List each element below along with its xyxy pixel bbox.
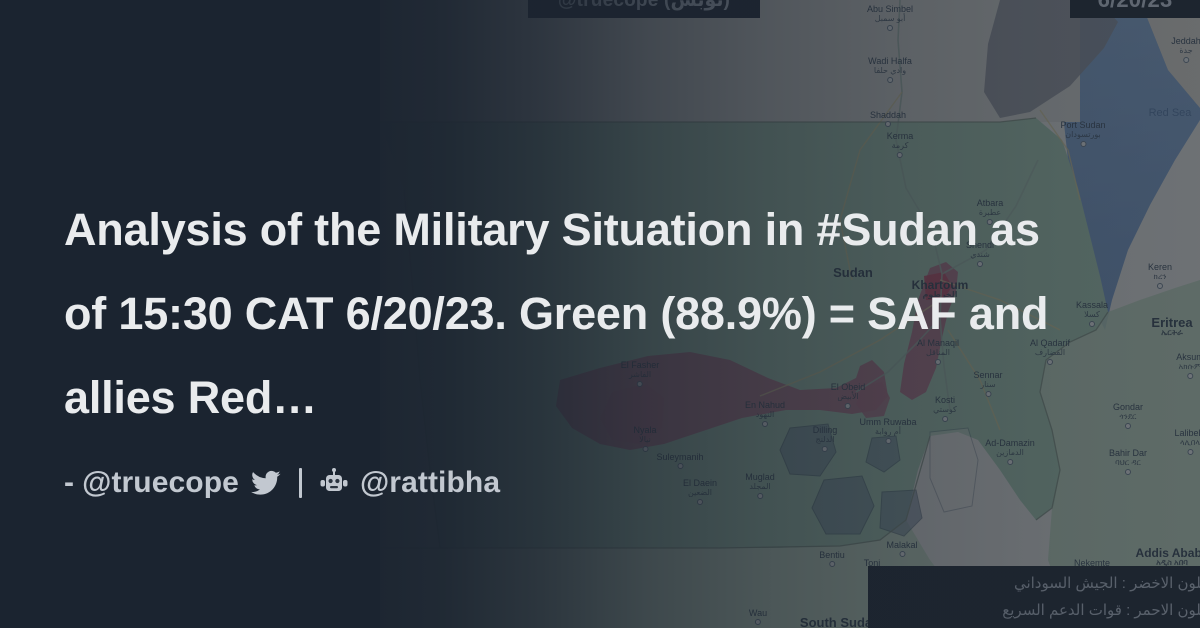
attribution-line: - @truecope @rattibha xyxy=(64,466,500,500)
robot-icon xyxy=(318,468,350,498)
service-handle[interactable]: @rattibha xyxy=(360,466,500,500)
card-content: Analysis of the Military Situation in #S… xyxy=(0,0,1200,628)
twitter-bird-icon[interactable] xyxy=(249,468,283,498)
separator-pipe xyxy=(299,468,302,498)
page-title: Analysis of the Military Situation in #S… xyxy=(64,188,1074,440)
author-handle[interactable]: @truecope xyxy=(82,466,239,500)
attribution-dash: - xyxy=(64,466,74,500)
social-share-card: Abu Simbelأبو سمبلWadi Halfaوادي حلفاSha… xyxy=(0,0,1200,628)
